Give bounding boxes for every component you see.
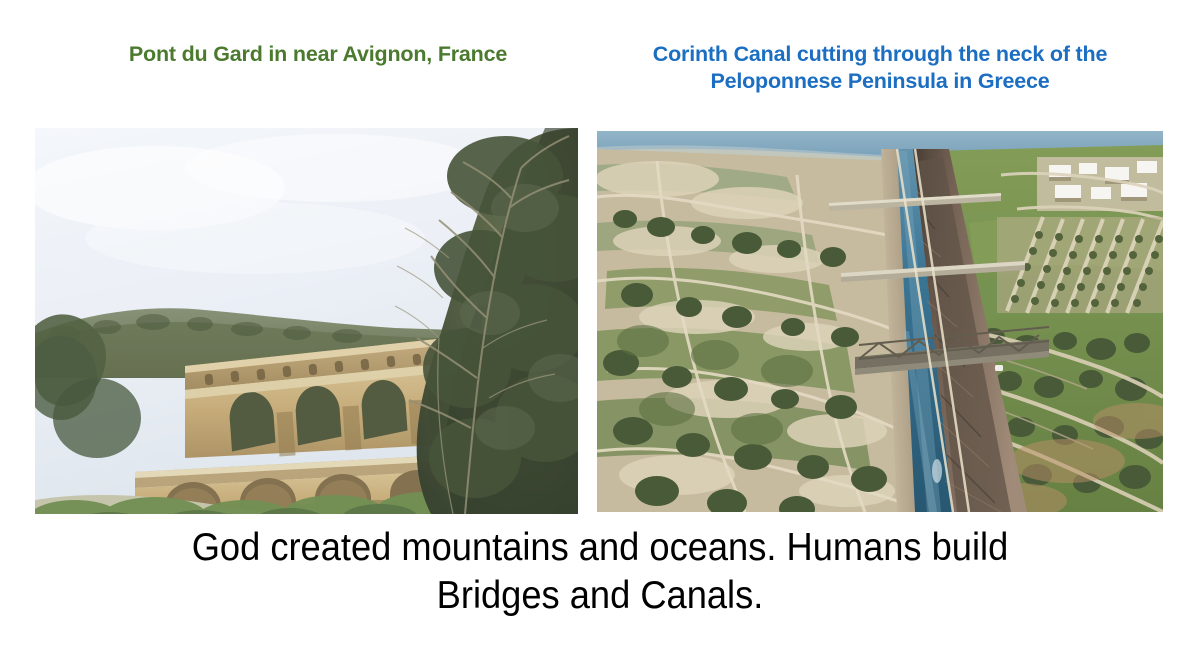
- corinth-canal-illustration: [597, 131, 1163, 512]
- slide-canvas: Pont du Gard in near Avignon, France Cor…: [0, 0, 1200, 655]
- caption-line-1: God created mountains and oceans. Humans…: [98, 524, 1102, 572]
- pont-du-gard-illustration: [35, 128, 578, 514]
- corinth-canal-photo: [597, 131, 1163, 512]
- right-image-title: Corinth Canal cutting through the neck o…: [594, 41, 1166, 95]
- pont-du-gard-photo: [35, 128, 578, 514]
- caption-line-2: Bridges and Canals.: [98, 572, 1102, 620]
- left-image-title: Pont du Gard in near Avignon, France: [18, 41, 618, 68]
- slide-caption: God created mountains and oceans. Humans…: [98, 524, 1102, 619]
